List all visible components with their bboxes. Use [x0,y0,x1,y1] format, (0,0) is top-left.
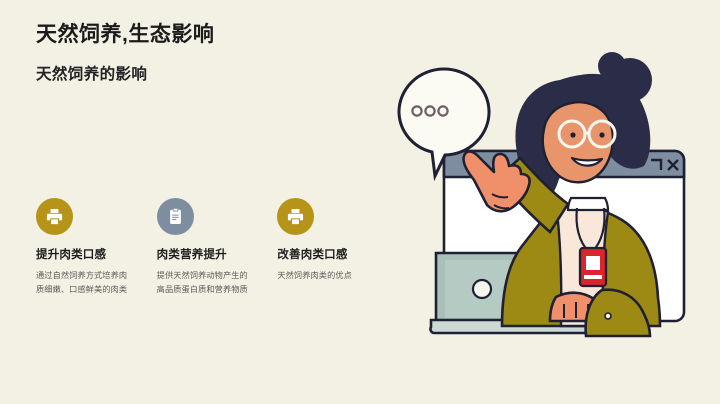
printer-icon [36,198,73,235]
slide-canvas: 天然饲养,生态影响 天然饲养的影响 提升肉类口感 通过自然饲养方式培养肉质细嫩、… [0,0,720,404]
feature-heading: 肉类营养提升 [157,248,256,262]
clipboard-icon [157,198,194,235]
feature-item-2: 肉类营养提升 提供天然饲养动物产生的高品质蛋白质和营养物质 [157,198,256,296]
printer-icon [277,198,314,235]
page-title: 天然饲养,生态影响 [36,22,366,48]
feature-list: 提升肉类口感 通过自然饲养方式培养肉质细嫩、口感鲜美的肉类 肉类营养提升 提供天… [36,198,376,296]
feature-body: 通过自然饲养方式培养肉质细嫩、口感鲜美的肉类 [36,269,135,296]
feature-body: 提供天然饲养动物产生的高品质蛋白质和营养物质 [157,269,256,296]
feature-body: 天然饲养肉类的优点 [277,269,376,282]
feature-item-1: 提升肉类口感 通过自然饲养方式培养肉质细嫩、口感鲜美的肉类 [36,198,135,296]
page-subtitle: 天然饲养的影响 [36,65,366,85]
feature-item-3: 改善肉类口感 天然饲养肉类的优点 [277,198,376,296]
hero-illustration [368,8,720,398]
feature-heading: 提升肉类口感 [36,248,135,262]
feature-heading: 改善肉类口感 [277,248,376,262]
title-block: 天然饲养,生态影响 天然饲养的影响 [36,22,366,85]
